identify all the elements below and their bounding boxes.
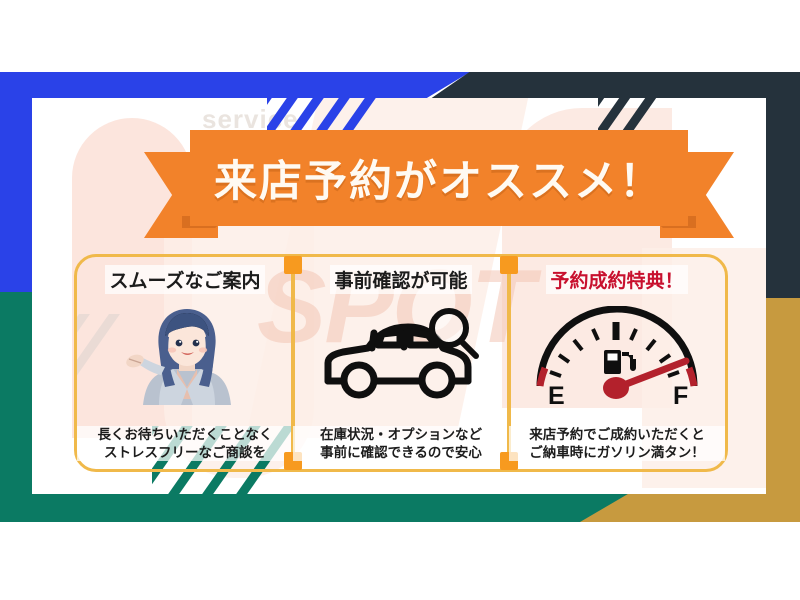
panel-reservation-bonus: 予約成約特典！: [509, 257, 725, 469]
caption-line-2: ストレスフリーなご商談を: [77, 444, 293, 461]
frame-right-navy: [766, 72, 800, 304]
headline-title: 来店予約がオススメ！: [214, 147, 664, 209]
fuel-gauge-icon: E F: [509, 293, 725, 423]
frame-right-gold: [766, 298, 800, 522]
ribbon-body: 来店予約がオススメ！: [190, 130, 688, 226]
panel-caption-reservation-bonus: 来店予約でご成約いただくと ご納車時にガソリン満タン！: [509, 426, 725, 461]
caption-line-1: 来店予約でご成約いただくと: [509, 426, 725, 443]
caption-line-2: ご納車時にガソリン満タン！: [509, 444, 725, 461]
frame-left-blue: [0, 72, 34, 298]
staff-person-illustration: [77, 293, 293, 423]
panel-title-smooth-guidance: スムーズなご案内: [105, 265, 264, 294]
screenshot-stage: SPOT service: [0, 0, 800, 600]
car-with-magnifier-icon: [293, 293, 509, 423]
panel-smooth-guidance: スムーズなご案内: [77, 257, 293, 469]
panel-advance-check: 事前確認が可能: [293, 257, 509, 469]
content-card: SPOT service: [32, 98, 766, 494]
promotional-artwork: SPOT service: [0, 72, 800, 522]
caption-line-1: 長くお待ちいただくことなく: [77, 426, 293, 443]
caption-line-2: 事前に確認できるので安心: [293, 444, 509, 461]
headline-ribbon: 来店予約がオススメ！: [144, 130, 734, 242]
panel-title-reservation-bonus: 予約成約特典！: [546, 265, 687, 294]
panel-caption-advance-check: 在庫状況・オプションなど 事前に確認できるので安心: [293, 426, 509, 461]
panel-caption-smooth-guidance: 長くお待ちいただくことなく ストレスフリーなご商談を: [77, 426, 293, 461]
feature-panel-group: スムーズなご案内: [74, 254, 728, 472]
panel-title-advance-check: 事前確認が可能: [330, 265, 471, 294]
svg-text:E: E: [548, 382, 565, 410]
caption-line-1: 在庫状況・オプションなど: [293, 426, 509, 443]
svg-text:F: F: [673, 382, 688, 410]
